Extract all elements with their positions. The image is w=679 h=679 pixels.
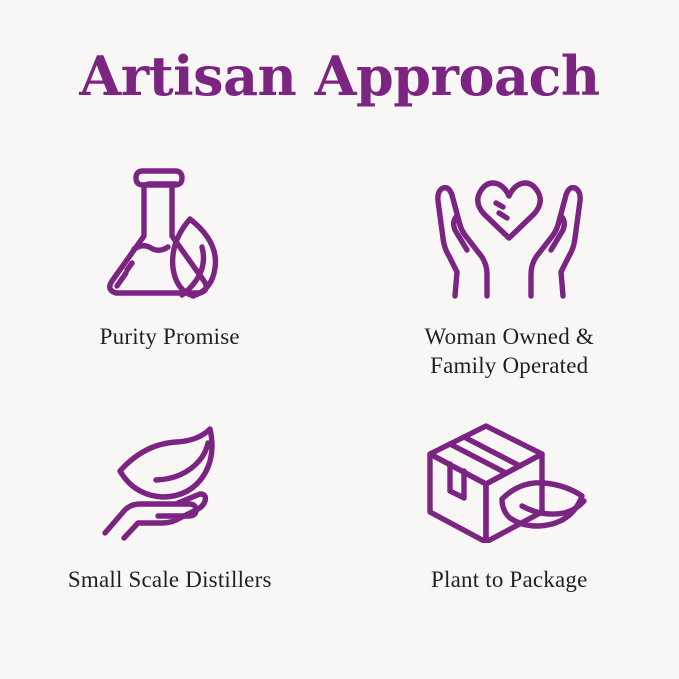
feature-label: Small Scale Distillers xyxy=(68,565,272,594)
feature-label: Plant to Package xyxy=(431,565,588,594)
feature-label: Woman Owned & Family Operated xyxy=(425,322,594,381)
page-title: Artisan Approach xyxy=(0,47,679,106)
artisan-approach-panel: Artisan Approach xyxy=(0,0,679,679)
box-leaf-icon xyxy=(424,403,594,543)
hand-leaf-icon xyxy=(100,403,240,543)
hands-heart-icon xyxy=(429,150,589,302)
feature-item-plant-to-package: Plant to Package xyxy=(340,403,679,643)
feature-item-woman-owned-family-operated: Woman Owned & Family Operated xyxy=(340,150,679,403)
feature-grid: Purity Promise xyxy=(0,150,679,643)
feature-label: Purity Promise xyxy=(100,322,240,351)
feature-item-small-scale-distillers: Small Scale Distillers xyxy=(0,403,340,643)
feature-item-purity-promise: Purity Promise xyxy=(0,150,340,403)
flask-leaf-icon xyxy=(96,150,244,302)
